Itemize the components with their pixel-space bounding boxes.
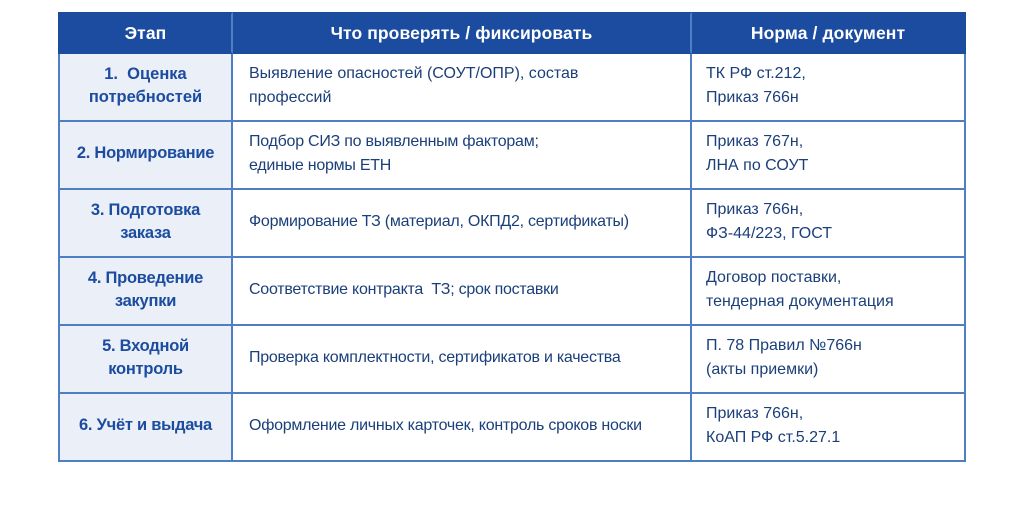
stage-label-line-1: 5. Входной <box>68 335 223 358</box>
cell-stage: 1. Оценка потребностей <box>58 54 233 122</box>
cell-stage: 6. Учёт и выдача <box>58 394 233 462</box>
table-header-row: Этап Что проверять / фиксировать Норма /… <box>58 12 966 54</box>
reference-text-line-1: Приказ 766н, <box>706 402 954 426</box>
stage-label-line-1: 3. Подготовка <box>68 199 223 222</box>
stage-label-line-2: заказа <box>68 222 223 245</box>
column-header-reference: Норма / документ <box>692 12 966 54</box>
reference-text-line-2: (акты приемки) <box>706 358 954 382</box>
stage-label-line-1: 4. Проведение <box>68 267 223 290</box>
cell-reference: П. 78 Правил №766н (акты приемки) <box>692 326 966 394</box>
cell-check: Выявление опасностей (СОУТ/ОПР), состав … <box>233 54 692 122</box>
reference-text-line-2: тендерная документация <box>706 290 954 314</box>
reference-text-line-2: КоАП РФ ст.5.27.1 <box>706 426 954 450</box>
table-body: 1. Оценка потребностей Выявление опаснос… <box>58 54 966 462</box>
reference-text-line-2: ЛНА по СОУТ <box>706 154 954 178</box>
table-row: 1. Оценка потребностей Выявление опаснос… <box>58 54 966 122</box>
check-text-line-2: профессий <box>249 86 678 110</box>
check-text-line-1: Соответствие контракта ТЗ; срок поставки <box>249 278 678 302</box>
procurement-stages-table-wrapper: Этап Что проверять / фиксировать Норма /… <box>58 12 966 511</box>
procurement-stages-table: Этап Что проверять / фиксировать Норма /… <box>58 12 966 462</box>
table-header: Этап Что проверять / фиксировать Норма /… <box>58 12 966 54</box>
stage-label-line-1: 2. Нормирование <box>68 142 223 165</box>
column-header-stage: Этап <box>58 12 233 54</box>
stage-label-line-1: 1. Оценка <box>68 63 223 86</box>
slide-canvas: Этап Что проверять / фиксировать Норма /… <box>0 0 1024 523</box>
reference-text-line-1: ТК РФ ст.212, <box>706 62 954 86</box>
stage-label-line-1: 6. Учёт и выдача <box>68 414 223 437</box>
reference-text-line-2: ФЗ-44/223, ГОСТ <box>706 222 954 246</box>
cell-stage: 3. Подготовка заказа <box>58 190 233 258</box>
check-text-line-1: Проверка комплектности, сертификатов и к… <box>249 346 678 370</box>
cell-stage: 2. Нормирование <box>58 122 233 190</box>
reference-text-line-1: Приказ 767н, <box>706 130 954 154</box>
check-text-line-2: единые нормы ЕТН <box>249 154 678 178</box>
stage-label-line-2: потребностей <box>68 86 223 109</box>
reference-text-line-1: Приказ 766н, <box>706 198 954 222</box>
cell-reference: Договор поставки, тендерная документация <box>692 258 966 326</box>
cell-check: Подбор СИЗ по выявленным факторам; едины… <box>233 122 692 190</box>
cell-reference: Приказ 767н, ЛНА по СОУТ <box>692 122 966 190</box>
cell-check: Оформление личных карточек, контроль сро… <box>233 394 692 462</box>
check-text-line-1: Выявление опасностей (СОУТ/ОПР), состав <box>249 62 678 86</box>
cell-reference: ТК РФ ст.212, Приказ 766н <box>692 54 966 122</box>
cell-check: Проверка комплектности, сертификатов и к… <box>233 326 692 394</box>
cell-stage: 5. Входной контроль <box>58 326 233 394</box>
stage-label-line-2: закупки <box>68 290 223 313</box>
reference-text-line-2: Приказ 766н <box>706 86 954 110</box>
column-header-check: Что проверять / фиксировать <box>233 12 692 54</box>
check-text-line-1: Оформление личных карточек, контроль сро… <box>249 414 678 438</box>
cell-reference: Приказ 766н, ФЗ-44/223, ГОСТ <box>692 190 966 258</box>
cell-stage: 4. Проведение закупки <box>58 258 233 326</box>
check-text-line-1: Формирование ТЗ (материал, ОКПД2, сертиф… <box>249 210 678 234</box>
reference-text-line-1: П. 78 Правил №766н <box>706 334 954 358</box>
cell-check: Формирование ТЗ (материал, ОКПД2, сертиф… <box>233 190 692 258</box>
table-row: 5. Входной контроль Проверка комплектнос… <box>58 326 966 394</box>
cell-reference: Приказ 766н, КоАП РФ ст.5.27.1 <box>692 394 966 462</box>
table-row: 2. Нормирование Подбор СИЗ по выявленным… <box>58 122 966 190</box>
table-row: 6. Учёт и выдача Оформление личных карто… <box>58 394 966 462</box>
stage-label-line-2: контроль <box>68 358 223 381</box>
check-text-line-1: Подбор СИЗ по выявленным факторам; <box>249 130 678 154</box>
table-row: 4. Проведение закупки Соответствие контр… <box>58 258 966 326</box>
cell-check: Соответствие контракта ТЗ; срок поставки <box>233 258 692 326</box>
reference-text-line-1: Договор поставки, <box>706 266 954 290</box>
table-row: 3. Подготовка заказа Формирование ТЗ (ма… <box>58 190 966 258</box>
